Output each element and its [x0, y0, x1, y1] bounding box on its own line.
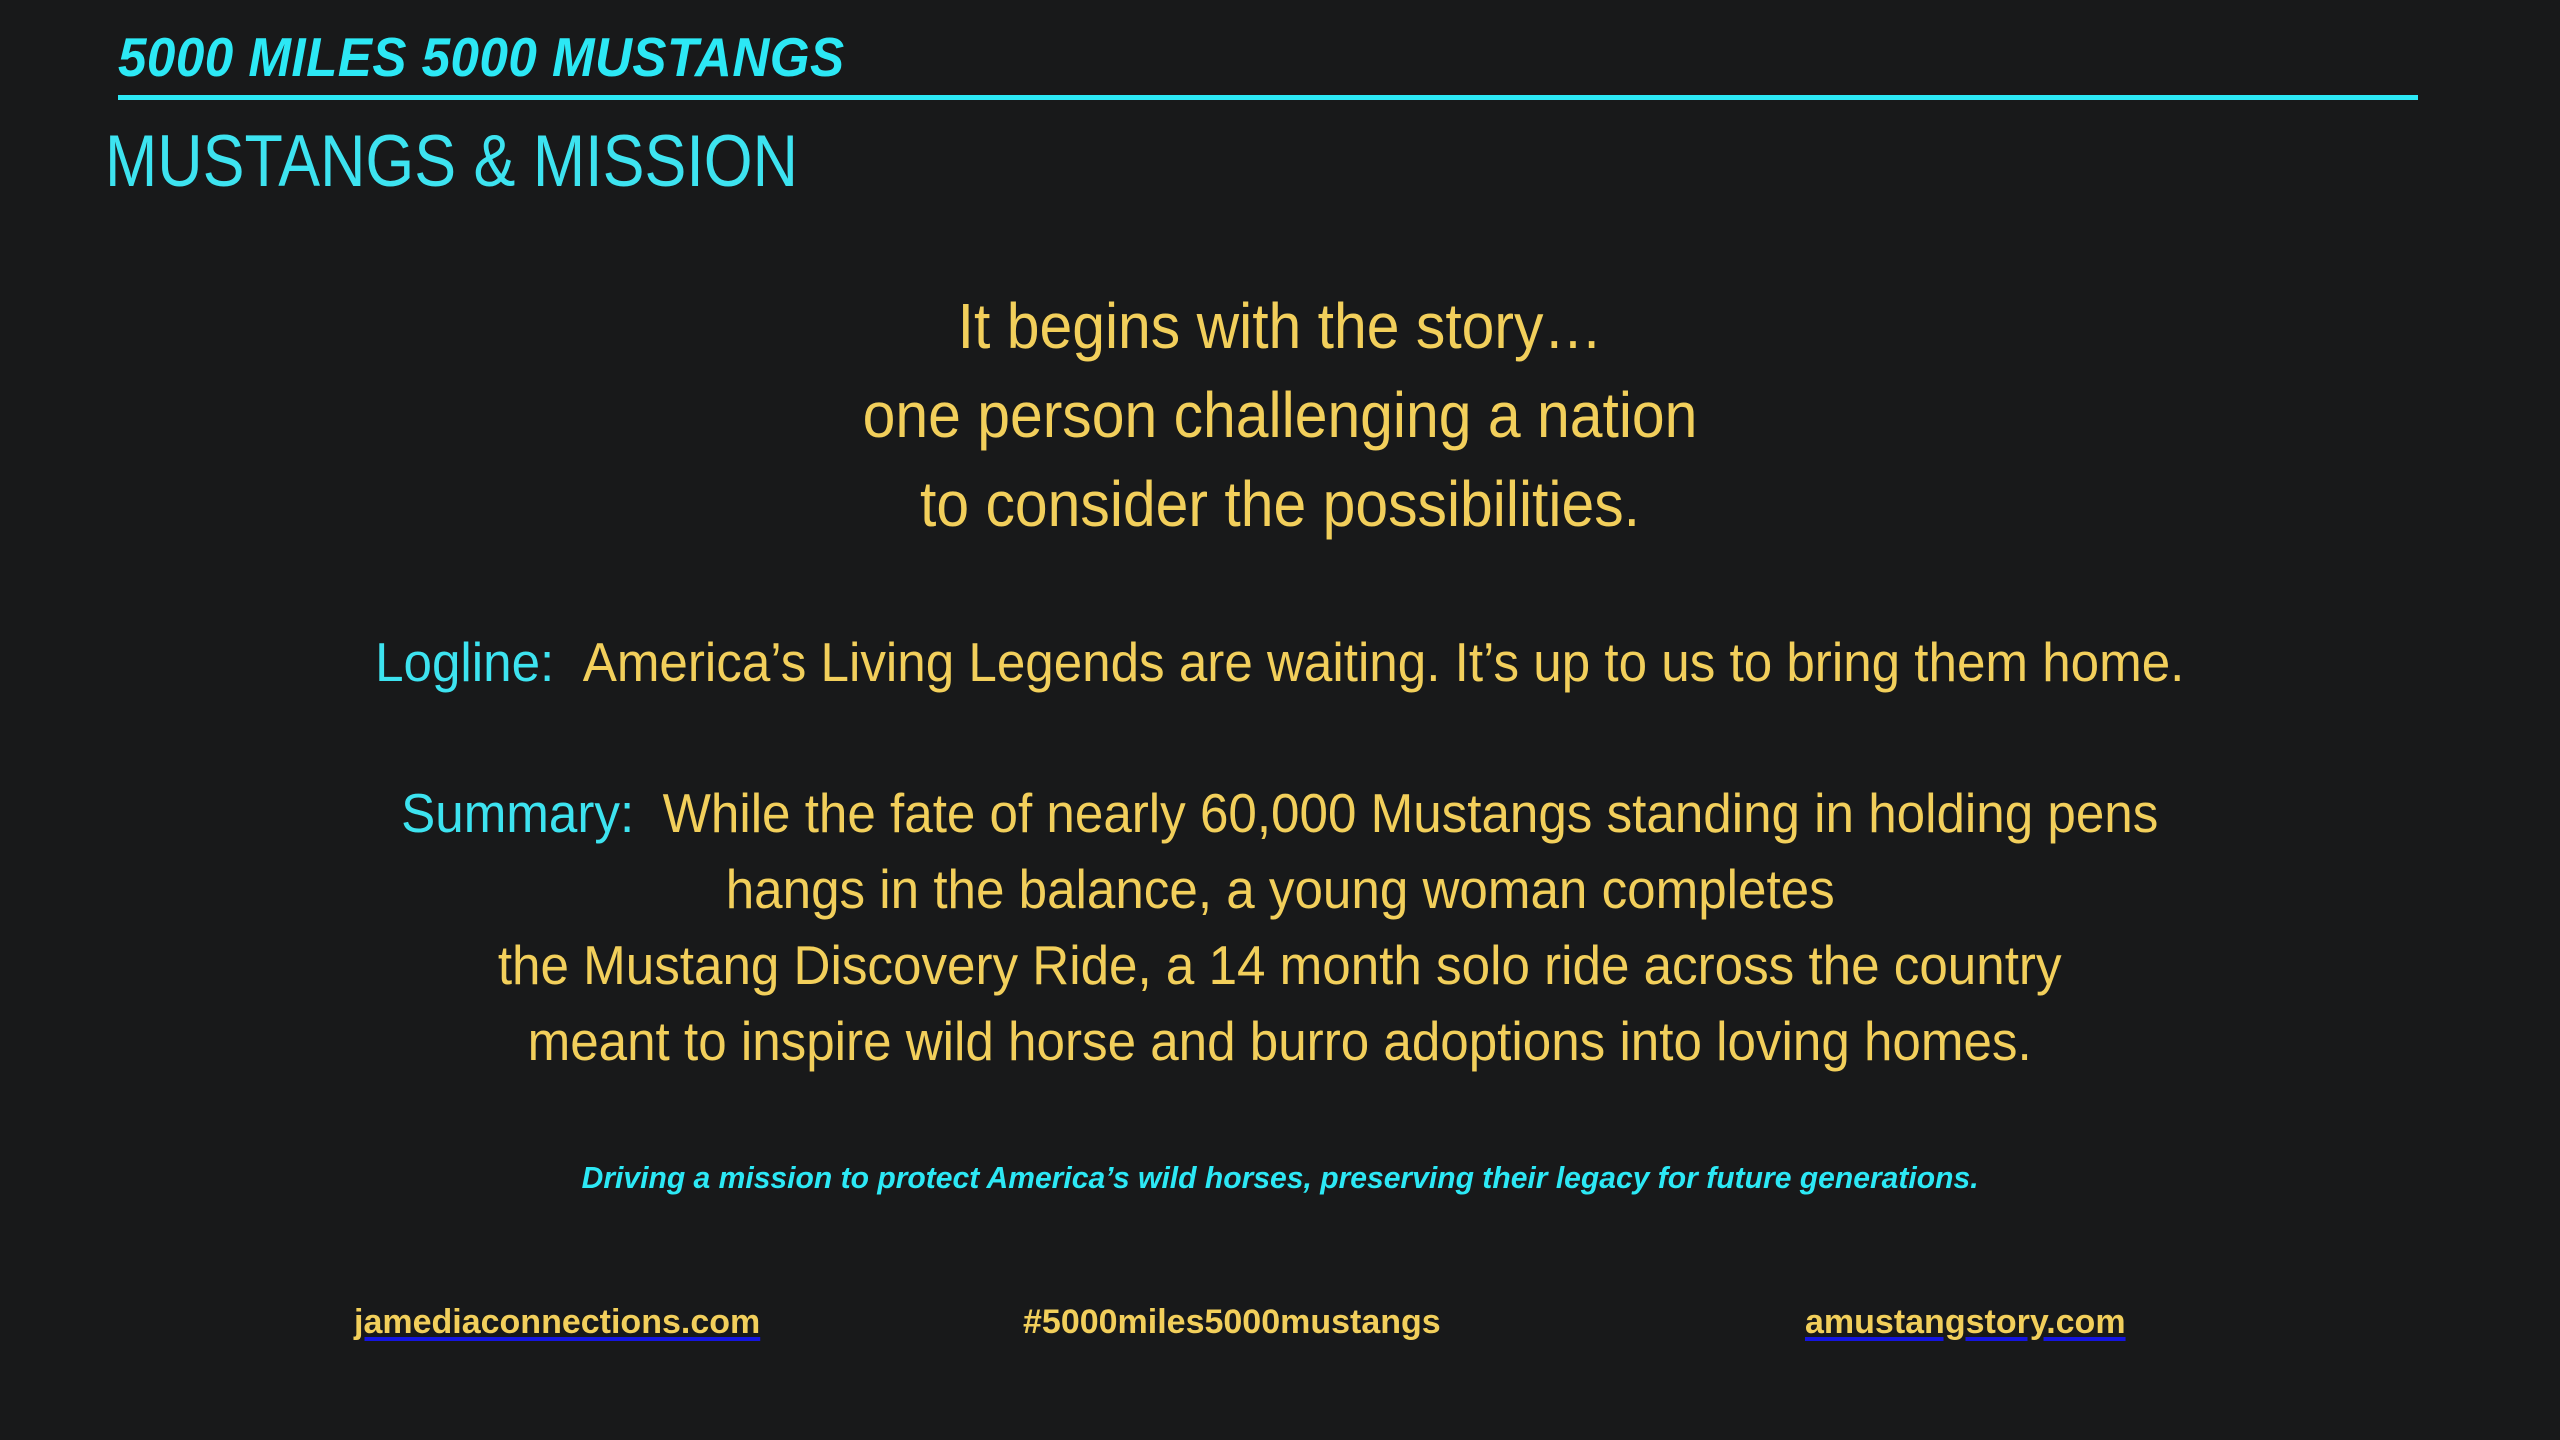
footer-link-website-jamediaconnections[interactable]: jamediaconnections.com [354, 1300, 760, 1344]
logline-text: America’s Living Legends are waiting. It… [583, 631, 2185, 693]
footer-link-website-amustangstory[interactable]: amustangstory.com [1805, 1300, 2126, 1344]
page-title: MUSTANGS & MISSION [105, 125, 798, 198]
summary-text-1: While the fate of nearly 60,000 Mustangs… [663, 782, 2159, 844]
summary-text-2: hangs in the balance, a young woman comp… [726, 851, 1835, 927]
summary-line-3: the Mustang Discovery Ride, a 14 month s… [0, 927, 2560, 1003]
summary-text-3: the Mustang Discovery Ride, a 14 month s… [498, 927, 2062, 1003]
summary-spacer [634, 782, 662, 844]
summary-line-1: Summary: While the fate of nearly 60,000… [0, 775, 2560, 851]
summary-label: Summary: [401, 782, 634, 844]
tagline-line-1: It begins with the story… [102, 282, 2457, 371]
summary-line-4: meant to inspire wild horse and burro ad… [0, 1003, 2560, 1079]
mission-statement: Driving a mission to protect America’s w… [0, 1160, 2560, 1196]
footer-hashtag: #5000miles5000mustangs [1023, 1300, 1441, 1344]
footer-bar: jamediaconnections.com #5000miles5000mus… [0, 1300, 2560, 1360]
brand-title: 5000 MILES 5000 MUSTANGS [118, 30, 845, 85]
slide-canvas: 5000 MILES 5000 MUSTANGS MUSTANGS & MISS… [0, 0, 2560, 1440]
logline-inner: Logline: America’s Living Legends are wa… [375, 627, 2184, 697]
mission-statement-text: Driving a mission to protect America’s w… [582, 1160, 1979, 1196]
summary-text-4: meant to inspire wild horse and burro ad… [528, 1003, 2032, 1079]
summary-block: Summary: While the fate of nearly 60,000… [0, 775, 2560, 1079]
header-divider-rule [118, 95, 2418, 100]
tagline-block: It begins with the story… one person cha… [0, 282, 2560, 549]
tagline-line-2: one person challenging a nation [102, 371, 2457, 460]
logline-spacer [555, 631, 583, 693]
tagline-line-3: to consider the possibilities. [102, 460, 2457, 549]
summary-line-2: hangs in the balance, a young woman comp… [0, 851, 2560, 927]
logline-block: Logline: America’s Living Legends are wa… [0, 627, 2560, 697]
logline-label: Logline: [375, 631, 554, 693]
